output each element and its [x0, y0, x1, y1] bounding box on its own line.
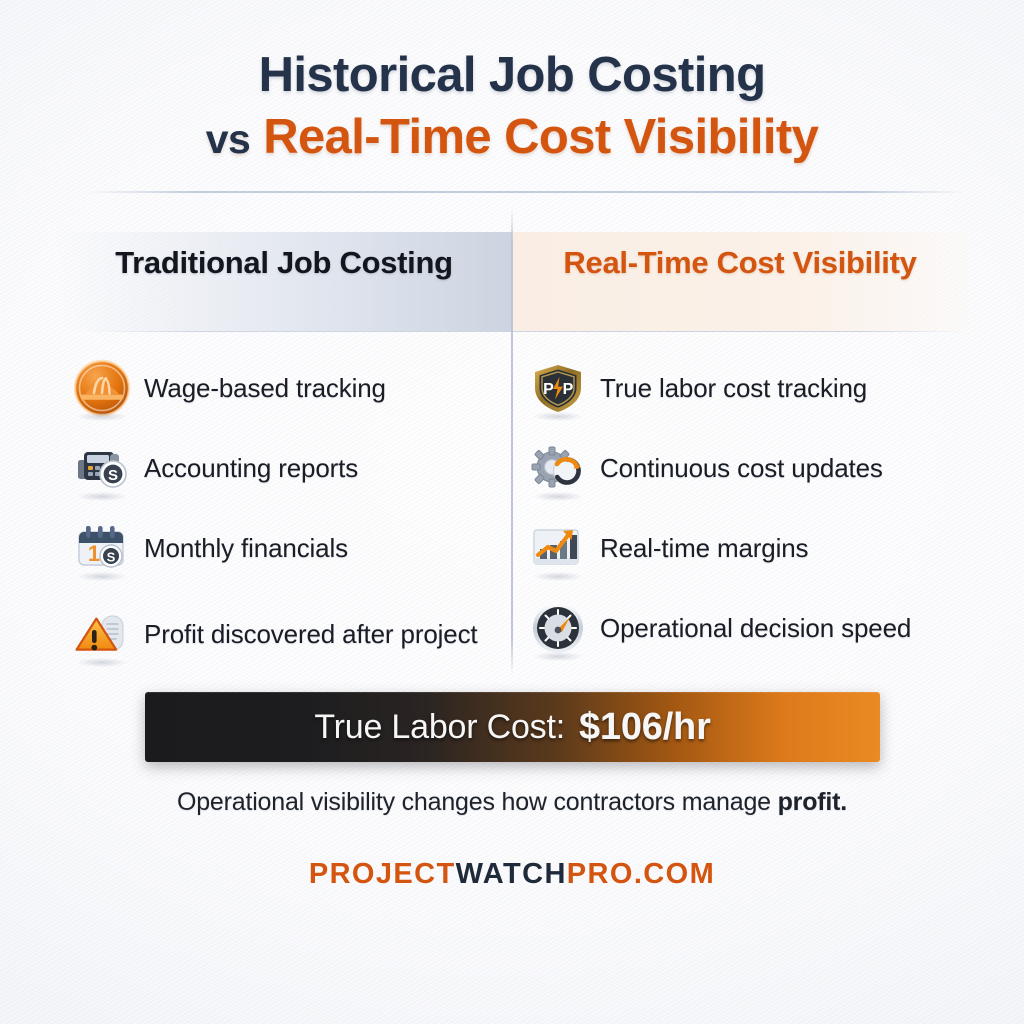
page-title: Historical Job Costing vs Real-Time Cost…: [0, 48, 1024, 165]
list-item: P P True labor cost tracking: [524, 348, 976, 428]
highlight-banner: True Labor Cost: $106/hr: [145, 692, 880, 762]
svg-text:1: 1: [88, 541, 100, 566]
list-item: Wage-based tracking: [68, 348, 508, 428]
footer-tagline: Operational visibility changes how contr…: [0, 788, 1024, 817]
warning-triangle-icon: [68, 602, 136, 666]
list-item: Real-time margins: [524, 508, 976, 588]
svg-text:S: S: [107, 550, 116, 565]
tagline-bold: profit.: [778, 788, 847, 816]
title-vs: vs: [206, 116, 250, 162]
list-item: Profit discovered after project: [68, 588, 508, 680]
list-item-label: True labor cost tracking: [600, 373, 867, 404]
header-divider-rule: [86, 191, 966, 193]
url-part-procom: PRO.COM: [567, 858, 715, 890]
svg-text:P: P: [563, 381, 574, 398]
pwp-shield-icon: P P: [524, 356, 592, 420]
left-column-list: Wage-based tracking S: [68, 348, 508, 680]
list-item-label: Operational decision speed: [600, 613, 911, 644]
website-url[interactable]: PROJECTWATCHPRO.COM: [0, 858, 1024, 891]
right-column-list: P P True labor cost tracking: [524, 348, 976, 668]
list-item-label: Wage-based tracking: [144, 373, 386, 404]
list-item-label: Accounting reports: [144, 453, 358, 484]
list-item-label: Continuous cost updates: [600, 453, 883, 484]
speedometer-icon: [524, 596, 592, 660]
list-item-label: Monthly financials: [144, 533, 348, 564]
right-column-heading: Real-Time Cost Visibility: [512, 244, 968, 282]
gear-refresh-icon: [524, 436, 592, 500]
url-part-watch: WATCH: [456, 858, 567, 890]
title-highlight: Real-Time Cost Visibility: [263, 110, 818, 164]
banner-label: True Labor Cost:: [314, 708, 565, 747]
tagline-plain: Operational visibility changes how contr…: [177, 788, 778, 816]
hard-hat-icon: [68, 356, 136, 420]
list-item-label: Real-time margins: [600, 533, 808, 564]
title-line-1: Historical Job Costing: [0, 48, 1024, 103]
url-part-project: PROJECT: [309, 858, 456, 890]
vertical-divider: [511, 208, 513, 676]
fax-dollar-icon: S: [68, 436, 136, 500]
list-item: S Accounting reports: [68, 428, 508, 508]
list-item: 1 S Monthly financials: [68, 508, 508, 588]
growth-chart-icon: [524, 516, 592, 580]
list-item: Operational decision speed: [524, 588, 976, 668]
list-item: Continuous cost updates: [524, 428, 976, 508]
infographic-page: Historical Job Costing vs Real-Time Cost…: [0, 0, 1024, 1024]
banner-amount: $106/hr: [579, 706, 711, 749]
list-item-label: Profit discovered after project: [144, 619, 478, 650]
title-line-2: vs Real-Time Cost Visibility: [0, 110, 1024, 165]
band-bottom-rule: [86, 331, 966, 332]
svg-text:S: S: [108, 467, 118, 484]
svg-text:P: P: [543, 381, 554, 398]
left-column-heading: Traditional Job Costing: [56, 244, 512, 282]
calendar-dollar-icon: 1 S: [68, 516, 136, 580]
